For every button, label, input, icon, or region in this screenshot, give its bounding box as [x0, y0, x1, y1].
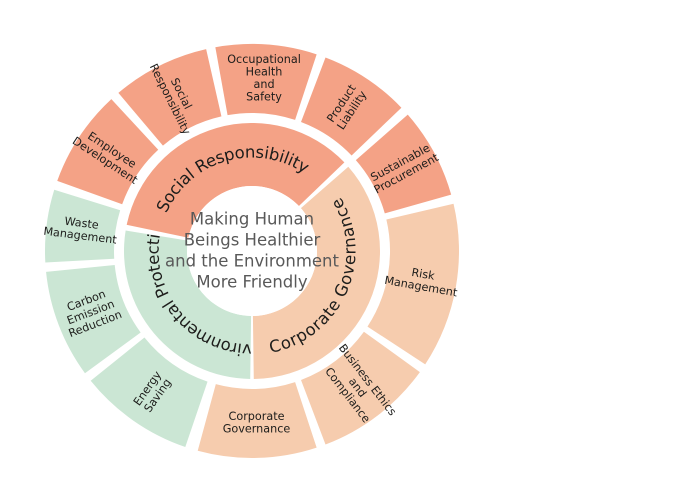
sunburst-svg: EmployeeDevelopmentSocialResponsibilityO…: [0, 0, 683, 490]
corporate-governance-sub-label: CorporateGovernance: [223, 410, 291, 436]
sunburst-diagram: EmployeeDevelopmentSocialResponsibilityO…: [0, 0, 683, 490]
